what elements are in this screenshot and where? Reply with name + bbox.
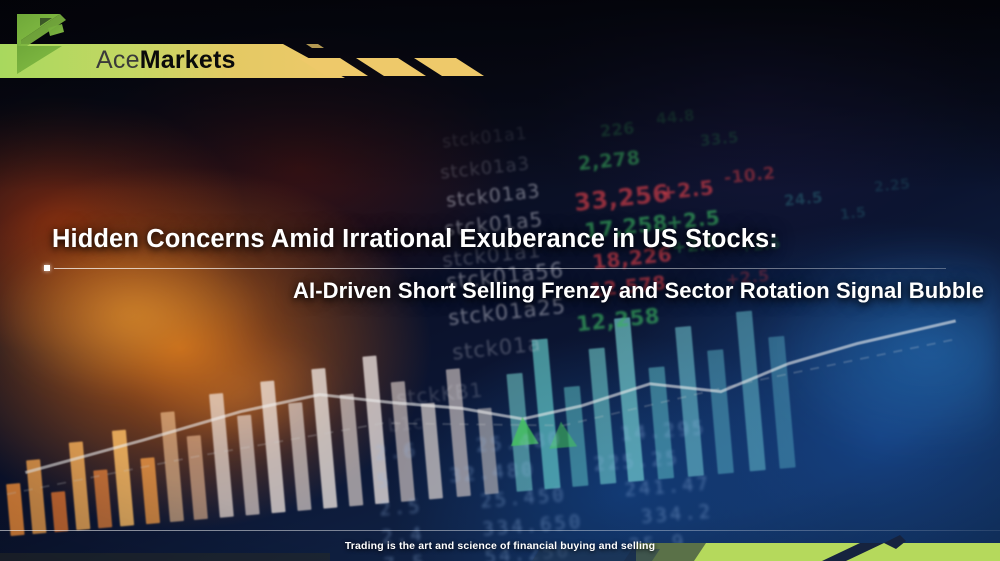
- footer-divider: [0, 530, 1000, 531]
- brand-name-light: Ace: [96, 46, 140, 74]
- brand-wordmark: AceMarkets: [96, 43, 236, 77]
- presentation-slide: 2.625.48014.295 532.480225.25 2.525.4502…: [0, 0, 1000, 561]
- slide-subtitle: AI-Driven Short Selling Frenzy and Secto…: [293, 278, 984, 304]
- brand-name-bold: Markets: [140, 46, 236, 74]
- slide-title: Hidden Concerns Amid Irrational Exuberan…: [52, 225, 778, 254]
- title-divider: [54, 268, 946, 269]
- footer-tagline: Trading is the art and science of financ…: [0, 540, 1000, 552]
- square-bullet-icon: [44, 265, 50, 271]
